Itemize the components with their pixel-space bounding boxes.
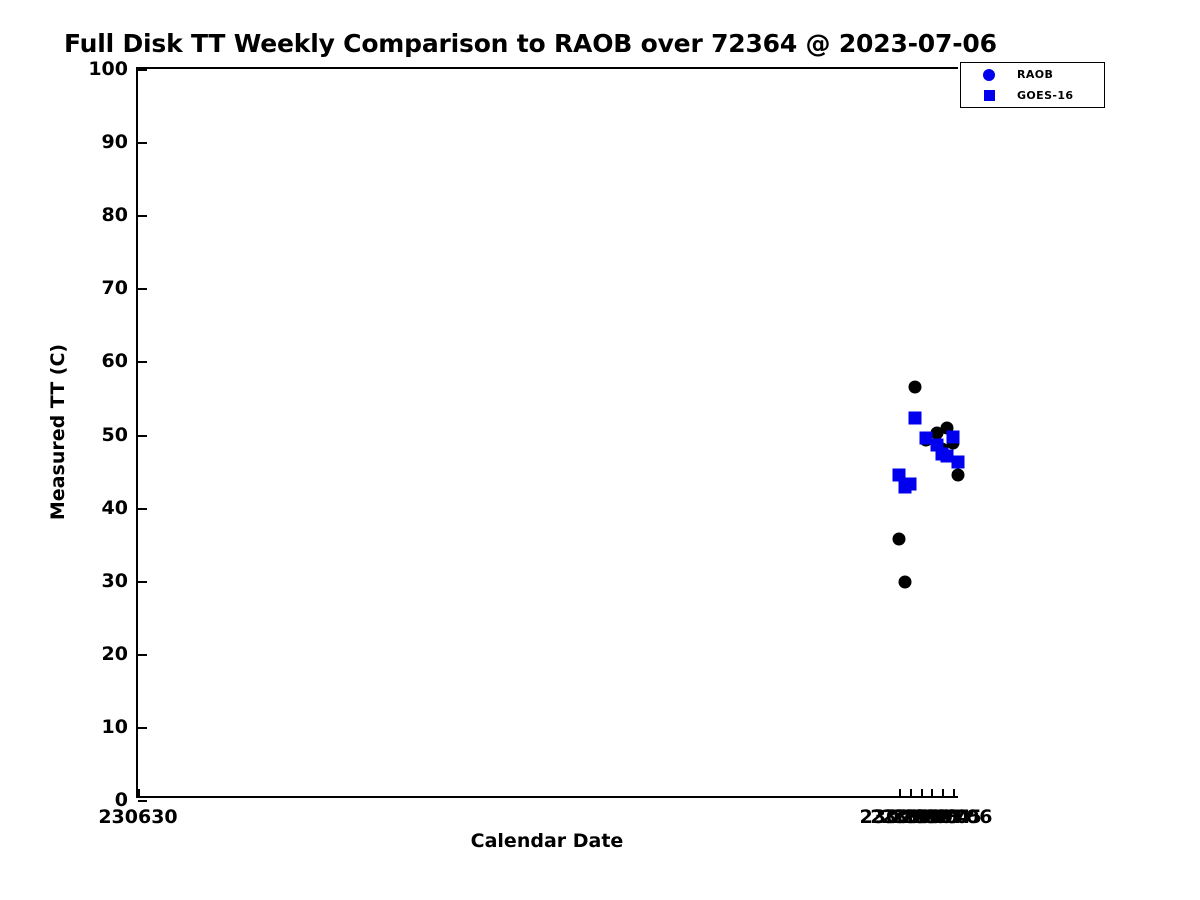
y-tick-mark [138,69,147,71]
y-tick-mark [138,361,147,363]
x-tick-label: 230630 [98,806,177,828]
y-tick-mark [138,800,147,802]
y-tick-mark [138,581,147,583]
legend-label-goes16: GOES-16 [1017,89,1074,102]
legend-label-raob: RAOB [1017,68,1053,81]
data-point-raob [893,533,906,546]
y-tick-mark [138,654,147,656]
y-tick-label: 30 [102,570,128,592]
y-tick-mark [138,215,147,217]
y-tick-label: 60 [102,350,128,372]
data-point-raob [909,380,922,393]
data-point-raob [952,469,965,482]
y-axis-title: Measured TT (C) [47,344,69,520]
data-point-goes-16 [903,478,916,491]
data-point-goes-16 [946,431,959,444]
legend-item-raob: RAOB [961,63,1104,86]
legend-marker-goes16-icon [961,90,1017,101]
y-tick-label: 100 [88,58,128,80]
x-tick-mark [899,789,901,798]
y-tick-mark [138,727,147,729]
y-tick-mark [138,508,147,510]
data-point-goes-16 [909,412,922,425]
x-tick-mark [910,789,912,798]
x-tick-mark [921,789,923,798]
y-tick-label: 70 [102,277,128,299]
page-title: Full Disk TT Weekly Comparison to RAOB o… [64,29,997,58]
y-tick-label: 90 [102,131,128,153]
y-tick-label: 50 [102,424,128,446]
y-tick-label: 40 [102,497,128,519]
y-tick-mark [138,142,147,144]
x-tick-label: 230706 [913,806,992,828]
plot-area: 0102030405060708090100 23063023070123070… [136,67,958,798]
y-tick-label: 10 [102,716,128,738]
x-tick-mark [942,789,944,798]
y-tick-label: 20 [102,643,128,665]
legend-marker-raob-icon [961,69,1017,81]
legend-square-icon [984,90,995,101]
chart-figure: Full Disk TT Weekly Comparison to RAOB o… [0,0,1200,900]
y-tick-mark [138,288,147,290]
x-axis-title: Calendar Date [136,830,958,852]
x-tick-mark [931,789,933,798]
x-tick-mark [138,789,140,798]
data-point-goes-16 [952,456,965,469]
y-tick-mark [138,435,147,437]
legend: RAOB GOES-16 [960,62,1105,108]
legend-circle-icon [983,69,995,81]
data-point-raob [898,576,911,589]
y-tick-label: 80 [102,204,128,226]
legend-item-goes16: GOES-16 [961,84,1104,107]
x-tick-mark [953,789,955,798]
